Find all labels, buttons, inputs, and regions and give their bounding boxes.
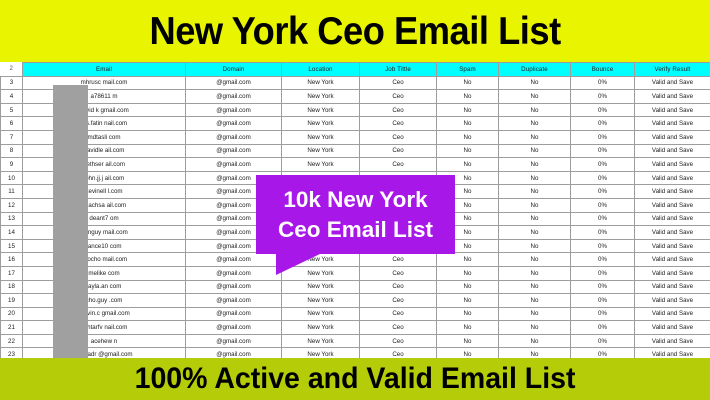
cell-domain[interactable]: @gmail.com	[186, 198, 282, 212]
cell-job-title[interactable]: Ceo	[360, 130, 437, 144]
cell-bounce[interactable]: 0%	[571, 144, 635, 158]
cell-job-title[interactable]: Ceo	[360, 117, 437, 131]
cell-spam[interactable]: No	[437, 130, 499, 144]
table-row[interactable]: 16ceocho mail.com@gmail.comNew YorkCeoNo…	[1, 253, 710, 267]
cell-verify-result[interactable]: Valid and Save	[635, 158, 710, 172]
cell-domain[interactable]: @gmail.com	[186, 226, 282, 240]
cell-spam[interactable]: No	[437, 103, 499, 117]
row-number[interactable]: 17	[1, 266, 23, 280]
cell-job-title[interactable]: Ceo	[360, 294, 437, 308]
cell-verify-result[interactable]: Valid and Save	[635, 144, 710, 158]
cell-duplicate[interactable]: No	[499, 144, 571, 158]
cell-verify-result[interactable]: Valid and Save	[635, 212, 710, 226]
spreadsheet-area: 2 Email Domain Location Job Tittle Spam …	[0, 62, 710, 358]
row-number[interactable]: 15	[1, 239, 23, 253]
cell-bounce[interactable]: 0%	[571, 266, 635, 280]
cell-bounce[interactable]: 0%	[571, 253, 635, 267]
cell-spam[interactable]: No	[437, 144, 499, 158]
cell-location[interactable]: New York	[282, 130, 360, 144]
top-banner: New York Ceo Email List	[0, 0, 710, 62]
cell-spam[interactable]: No	[437, 280, 499, 294]
cell-bounce[interactable]: 0%	[571, 321, 635, 335]
cell-bounce[interactable]: 0%	[571, 103, 635, 117]
cell-domain[interactable]: @gmail.com	[186, 294, 282, 308]
row-number[interactable]: 21	[1, 321, 23, 335]
cell-location[interactable]: New York	[282, 226, 360, 240]
table-row[interactable]: 20garvin.c gmail.com@gmail.comNew YorkCe…	[1, 307, 710, 321]
cell-verify-result[interactable]: Valid and Save	[635, 90, 710, 104]
cell-bounce[interactable]: 0%	[571, 226, 635, 240]
cell-spam[interactable]: No	[437, 239, 499, 253]
cell-email[interactable]: deant7 om	[23, 212, 186, 226]
header-row-number: 2	[1, 63, 23, 77]
cell-email[interactable]: layla.an com	[23, 280, 186, 294]
table-row[interactable]: 15lance10 com@gmail.comNew YorkCeoNoNo0%…	[1, 239, 710, 253]
cell-duplicate[interactable]: No	[499, 90, 571, 104]
cell-spam[interactable]: No	[437, 253, 499, 267]
row-number[interactable]: 12	[1, 198, 23, 212]
cell-duplicate[interactable]: No	[499, 130, 571, 144]
row-number[interactable]: 22	[1, 334, 23, 348]
cell-duplicate[interactable]: No	[499, 307, 571, 321]
cell-spam[interactable]: No	[437, 212, 499, 226]
table-row[interactable]: 12coachsa ail.com@gmail.comNew YorkCeoNo…	[1, 198, 710, 212]
cell-spam[interactable]: No	[437, 185, 499, 199]
cell-job-title[interactable]: Ceo	[360, 103, 437, 117]
cell-email[interactable]: cho.guy .com	[23, 294, 186, 308]
cell-domain[interactable]: @gmail.com	[186, 266, 282, 280]
cell-location[interactable]: New York	[282, 253, 360, 267]
cell-spam[interactable]: No	[437, 90, 499, 104]
cell-job-title[interactable]: Ceo	[360, 321, 437, 335]
cell-location[interactable]: New York	[282, 348, 360, 358]
row-number[interactable]: 20	[1, 307, 23, 321]
cell-verify-result[interactable]: Valid and Save	[635, 334, 710, 348]
table-header: 2 Email Domain Location Job Tittle Spam …	[1, 63, 710, 77]
cell-verify-result[interactable]: Valid and Save	[635, 198, 710, 212]
bottom-banner: 100% Active and Valid Email List	[0, 358, 710, 400]
cell-domain[interactable]: @gmail.com	[186, 280, 282, 294]
cell-job-title[interactable]: Ceo	[360, 158, 437, 172]
cell-verify-result[interactable]: Valid and Save	[635, 239, 710, 253]
table-row[interactable]: 4a78611 m@gmail.comNew YorkCeoNoNo0%Vali…	[1, 90, 710, 104]
cell-duplicate[interactable]: No	[499, 266, 571, 280]
cell-bounce[interactable]: 0%	[571, 158, 635, 172]
cell-verify-result[interactable]: Valid and Save	[635, 103, 710, 117]
cell-job-title[interactable]: Ceo	[360, 280, 437, 294]
cell-domain[interactable]: @gmail.com	[186, 90, 282, 104]
cell-bounce[interactable]: 0%	[571, 239, 635, 253]
cell-spam[interactable]: No	[437, 266, 499, 280]
cell-domain[interactable]: @gmail.com	[186, 76, 282, 90]
cell-bounce[interactable]: 0%	[571, 307, 635, 321]
cell-verify-result[interactable]: Valid and Save	[635, 307, 710, 321]
cell-location[interactable]: New York	[282, 185, 360, 199]
column-header-verify-result[interactable]: Verify Result	[635, 63, 710, 77]
row-number[interactable]: 13	[1, 212, 23, 226]
table-header-row: 2 Email Domain Location Job Tittle Spam …	[1, 63, 710, 77]
cell-bounce[interactable]: 0%	[571, 212, 635, 226]
cell-bounce[interactable]: 0%	[571, 90, 635, 104]
cell-verify-result[interactable]: Valid and Save	[635, 294, 710, 308]
cell-email[interactable]: john.jj.j ail.com	[23, 171, 186, 185]
cell-duplicate[interactable]: No	[499, 348, 571, 358]
cell-bounce[interactable]: 0%	[571, 185, 635, 199]
cell-spam[interactable]: No	[437, 158, 499, 172]
row-number[interactable]: 19	[1, 294, 23, 308]
cell-job-title[interactable]: Ceo	[360, 76, 437, 90]
column-header-email[interactable]: Email	[23, 63, 186, 77]
cell-spam[interactable]: No	[437, 294, 499, 308]
cell-domain[interactable]: @gmail.com	[186, 158, 282, 172]
cell-bounce[interactable]: 0%	[571, 171, 635, 185]
poster-canvas: New York Ceo Email List 2 Email Domain L…	[0, 0, 710, 400]
row-number[interactable]: 11	[1, 185, 23, 199]
cell-location[interactable]: New York	[282, 90, 360, 104]
row-number[interactable]: 16	[1, 253, 23, 267]
cell-duplicate[interactable]: No	[499, 185, 571, 199]
table-row[interactable]: 11kevinell l.com@gmail.comNew YorkCeoNoN…	[1, 185, 710, 199]
cell-bounce[interactable]: 0%	[571, 76, 635, 90]
cell-job-title[interactable]: Ceo	[360, 307, 437, 321]
cell-duplicate[interactable]: No	[499, 226, 571, 240]
cell-duplicate[interactable]: No	[499, 280, 571, 294]
cell-duplicate[interactable]: No	[499, 198, 571, 212]
bottom-banner-title: 100% Active and Valid Email List	[135, 364, 576, 394]
cell-job-title[interactable]: Ceo	[360, 266, 437, 280]
cell-job-title[interactable]: Ceo	[360, 198, 437, 212]
cell-duplicate[interactable]: No	[499, 158, 571, 172]
cell-location[interactable]: New York	[282, 321, 360, 335]
cell-duplicate[interactable]: No	[499, 334, 571, 348]
cell-bounce[interactable]: 0%	[571, 198, 635, 212]
cell-domain[interactable]: @gmail.com	[186, 253, 282, 267]
cell-duplicate[interactable]: No	[499, 253, 571, 267]
cell-verify-result[interactable]: Valid and Save	[635, 321, 710, 335]
row-number[interactable]: 14	[1, 226, 23, 240]
cell-email[interactable]: acehew n	[23, 334, 186, 348]
cell-spam[interactable]: No	[437, 76, 499, 90]
cell-bounce[interactable]: 0%	[571, 334, 635, 348]
cell-email[interactable]: coachsa ail.com	[23, 198, 186, 212]
cell-email[interactable]: lance10 com	[23, 239, 186, 253]
cell-duplicate[interactable]: No	[499, 103, 571, 117]
row-number[interactable]: 5	[1, 103, 23, 117]
row-number[interactable]: 8	[1, 144, 23, 158]
cell-location[interactable]: New York	[282, 266, 360, 280]
cell-email[interactable]: mhrusc mail.com	[23, 76, 186, 90]
cell-location[interactable]: New York	[282, 158, 360, 172]
cell-email[interactable]: billnguy mail.com	[23, 226, 186, 240]
cell-location[interactable]: New York	[282, 212, 360, 226]
cell-job-title[interactable]: Ceo	[360, 212, 437, 226]
cell-email[interactable]: david k gmail.com	[23, 103, 186, 117]
cell-bounce[interactable]: 0%	[571, 280, 635, 294]
cell-domain[interactable]: @gmail.com	[186, 348, 282, 358]
cell-job-title[interactable]: Ceo	[360, 226, 437, 240]
cell-spam[interactable]: No	[437, 307, 499, 321]
cell-domain[interactable]: @gmail.com	[186, 171, 282, 185]
cell-duplicate[interactable]: No	[499, 212, 571, 226]
cell-job-title[interactable]: Ceo	[360, 144, 437, 158]
row-number[interactable]: 6	[1, 117, 23, 131]
cell-location[interactable]: New York	[282, 117, 360, 131]
cell-duplicate[interactable]: No	[499, 294, 571, 308]
table-row[interactable]: 8davidle ail.com@gmail.comNew YorkCeoNoN…	[1, 144, 710, 158]
table-row[interactable]: 22acehew n@gmail.comNew YorkCeoNoNo0%Val…	[1, 334, 710, 348]
cell-email[interactable]: davidle ail.com	[23, 144, 186, 158]
row-number[interactable]: 3	[1, 76, 23, 90]
cell-verify-result[interactable]: Valid and Save	[635, 76, 710, 90]
column-header-job-title[interactable]: Job Tittle	[360, 63, 437, 77]
cell-email[interactable]: garvin.c gmail.com	[23, 307, 186, 321]
table-row[interactable]: 5david k gmail.com@gmail.comNew YorkCeoN…	[1, 103, 710, 117]
cell-duplicate[interactable]: No	[499, 76, 571, 90]
table-row[interactable]: 6ms.fatin nail.com@gmail.comNew YorkCeoN…	[1, 117, 710, 131]
column-header-bounce[interactable]: Bounce	[571, 63, 635, 77]
column-header-duplicate[interactable]: Duplicate	[499, 63, 571, 77]
cell-spam[interactable]: No	[437, 117, 499, 131]
cell-job-title[interactable]: Ceo	[360, 171, 437, 185]
cell-verify-result[interactable]: Valid and Save	[635, 117, 710, 131]
cell-duplicate[interactable]: No	[499, 171, 571, 185]
table-row[interactable]: 14billnguy mail.com@gmail.comNew YorkCeo…	[1, 226, 710, 240]
cell-email[interactable]: mdtasli com	[23, 130, 186, 144]
cell-job-title[interactable]: Ceo	[360, 348, 437, 358]
cell-spam[interactable]: No	[437, 348, 499, 358]
cell-job-title[interactable]: Ceo	[360, 334, 437, 348]
table-row[interactable]: 19cho.guy .com@gmail.comNew YorkCeoNoNo0…	[1, 294, 710, 308]
cell-job-title[interactable]: Ceo	[360, 239, 437, 253]
column-header-spam[interactable]: Spam	[437, 63, 499, 77]
cell-domain[interactable]: @gmail.com	[186, 117, 282, 131]
cell-job-title[interactable]: Ceo	[360, 185, 437, 199]
cell-location[interactable]: New York	[282, 239, 360, 253]
cell-email[interactable]: kevinell l.com	[23, 185, 186, 199]
row-number[interactable]: 23	[1, 348, 23, 358]
cell-bounce[interactable]: 0%	[571, 348, 635, 358]
cell-job-title[interactable]: Ceo	[360, 253, 437, 267]
row-number[interactable]: 7	[1, 130, 23, 144]
cell-domain[interactable]: @gmail.com	[186, 144, 282, 158]
cell-location[interactable]: New York	[282, 103, 360, 117]
column-header-domain[interactable]: Domain	[186, 63, 282, 77]
cell-location[interactable]: New York	[282, 171, 360, 185]
cell-email[interactable]: melike com	[23, 266, 186, 280]
cell-verify-result[interactable]: Valid and Save	[635, 130, 710, 144]
cell-domain[interactable]: @gmail.com	[186, 321, 282, 335]
table-body: 3mhrusc mail.com@gmail.comNew YorkCeoNoN…	[1, 76, 710, 358]
email-list-table: 2 Email Domain Location Job Tittle Spam …	[0, 62, 710, 358]
table-row[interactable]: 23ahmadr @gmail.com@gmail.comNew YorkCeo…	[1, 348, 710, 358]
cell-domain[interactable]: @gmail.com	[186, 334, 282, 348]
top-banner-title: New York Ceo Email List	[149, 12, 560, 51]
cell-spam[interactable]: No	[437, 198, 499, 212]
cell-verify-result[interactable]: Valid and Save	[635, 266, 710, 280]
cell-verify-result[interactable]: Valid and Save	[635, 253, 710, 267]
cell-location[interactable]: New York	[282, 294, 360, 308]
table-row[interactable]: 21akhtarfv nail.com@gmail.comNew YorkCeo…	[1, 321, 710, 335]
cell-bounce[interactable]: 0%	[571, 117, 635, 131]
cell-email[interactable]: ahmadr @gmail.com	[23, 348, 186, 358]
cell-spam[interactable]: No	[437, 226, 499, 240]
row-number[interactable]: 10	[1, 171, 23, 185]
cell-spam[interactable]: No	[437, 171, 499, 185]
cell-email[interactable]: ceocho mail.com	[23, 253, 186, 267]
cell-bounce[interactable]: 0%	[571, 294, 635, 308]
cell-duplicate[interactable]: No	[499, 321, 571, 335]
cell-email[interactable]: gethser ail.com	[23, 158, 186, 172]
cell-domain[interactable]: @gmail.com	[186, 130, 282, 144]
cell-domain[interactable]: @gmail.com	[186, 212, 282, 226]
table-row[interactable]: 9gethser ail.com@gmail.comNew YorkCeoNoN…	[1, 158, 710, 172]
cell-domain[interactable]: @gmail.com	[186, 185, 282, 199]
cell-domain[interactable]: @gmail.com	[186, 307, 282, 321]
cell-spam[interactable]: No	[437, 321, 499, 335]
table-row[interactable]: 3mhrusc mail.com@gmail.comNew YorkCeoNoN…	[1, 76, 710, 90]
column-header-location[interactable]: Location	[282, 63, 360, 77]
table-row[interactable]: 10john.jj.j ail.com@gmail.comNew YorkCeo…	[1, 171, 710, 185]
cell-verify-result[interactable]: Valid and Save	[635, 171, 710, 185]
row-number[interactable]: 18	[1, 280, 23, 294]
cell-verify-result[interactable]: Valid and Save	[635, 348, 710, 358]
cell-verify-result[interactable]: Valid and Save	[635, 185, 710, 199]
cell-email[interactable]: a78611 m	[23, 90, 186, 104]
row-number[interactable]: 4	[1, 90, 23, 104]
row-number[interactable]: 9	[1, 158, 23, 172]
cell-email[interactable]: ms.fatin nail.com	[23, 117, 186, 131]
cell-location[interactable]: New York	[282, 198, 360, 212]
cell-spam[interactable]: No	[437, 334, 499, 348]
cell-location[interactable]: New York	[282, 334, 360, 348]
cell-bounce[interactable]: 0%	[571, 130, 635, 144]
table-row[interactable]: 18layla.an com@gmail.comNew YorkCeoNoNo0…	[1, 280, 710, 294]
cell-location[interactable]: New York	[282, 280, 360, 294]
cell-duplicate[interactable]: No	[499, 117, 571, 131]
cell-email[interactable]: akhtarfv nail.com	[23, 321, 186, 335]
table-row[interactable]: 17melike com@gmail.comNew YorkCeoNoNo0%V…	[1, 266, 710, 280]
cell-location[interactable]: New York	[282, 76, 360, 90]
cell-duplicate[interactable]: No	[499, 239, 571, 253]
cell-domain[interactable]: @gmail.com	[186, 239, 282, 253]
table-row[interactable]: 13deant7 om@gmail.comNew YorkCeoNoNo0%Va…	[1, 212, 710, 226]
cell-location[interactable]: New York	[282, 307, 360, 321]
cell-job-title[interactable]: Ceo	[360, 90, 437, 104]
cell-verify-result[interactable]: Valid and Save	[635, 226, 710, 240]
table-row[interactable]: 7mdtasli com@gmail.comNew YorkCeoNoNo0%V…	[1, 130, 710, 144]
cell-verify-result[interactable]: Valid and Save	[635, 280, 710, 294]
cell-location[interactable]: New York	[282, 144, 360, 158]
cell-domain[interactable]: @gmail.com	[186, 103, 282, 117]
